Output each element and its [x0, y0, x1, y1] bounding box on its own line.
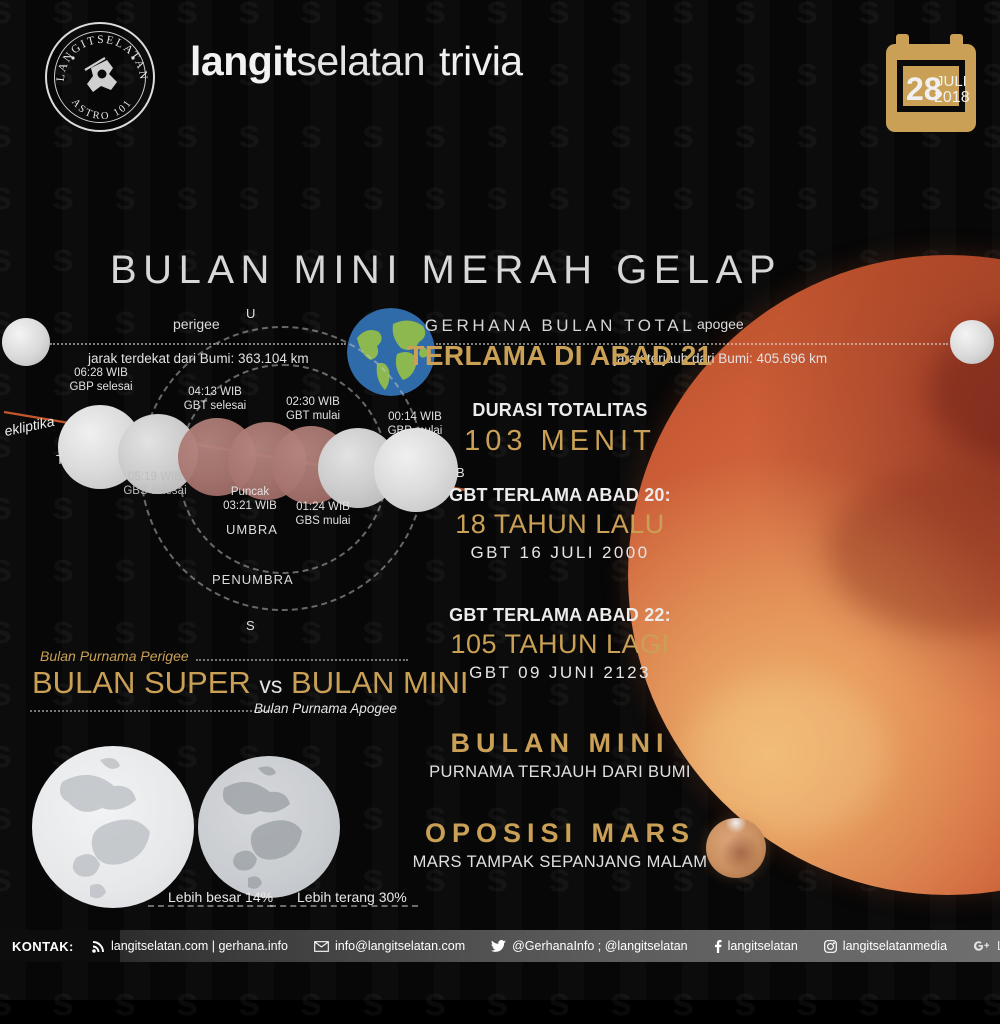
footer-item-text: langitselatanmedia: [843, 939, 947, 953]
compare-bottom-dotted-line: [30, 710, 272, 712]
mini-sub: PURNAMA TERJAUH DARI BUMI: [400, 763, 720, 782]
brand-langit: langit: [190, 38, 296, 84]
c20-value: 18 TAHUN LALU: [400, 509, 720, 540]
compare-caption-line-right: [270, 905, 418, 907]
calendar-icon: 28 JULI 2018: [884, 30, 978, 134]
fact-block-headline: GERHANA BULAN TOTAL TERLAMA DI ABAD 21: [400, 316, 720, 372]
watermark-glyph: s: [362, 796, 384, 836]
footer-item-website[interactable]: langitselatan.com | gerhana.info: [92, 939, 288, 953]
watermark-glyph: s: [982, 982, 1000, 1022]
duration-value: 103 MENIT: [400, 425, 720, 458]
supermoon-maria: [32, 746, 194, 908]
envelope-icon: [314, 941, 329, 952]
compare-title: BULAN SUPER vs BULAN MINI: [32, 665, 468, 701]
eclipse-label-gbp-selesai: 06:28 WIB GBP selesai: [46, 366, 156, 394]
watermark-glyph: s: [610, 982, 632, 1022]
watermark-glyph: s: [672, 982, 694, 1022]
phase-time: 06:28 WIB: [46, 366, 156, 380]
footer-item-text: info@langitselatan.com: [335, 939, 465, 953]
footer-item-instagram[interactable]: langitselatanmedia: [824, 939, 947, 953]
phase-event: GBT selesai: [160, 399, 270, 413]
watermark-glyph: s: [362, 982, 384, 1022]
watermark-glyph: s: [300, 982, 322, 1022]
watermark-glyph: s: [114, 982, 136, 1022]
watermark-glyph: s: [238, 982, 260, 1022]
watermark-glyph: s: [0, 858, 12, 898]
langitselatan-logo: LANGITSELATAN ASTRO 101: [45, 22, 155, 132]
watermark-glyph: s: [548, 982, 570, 1022]
footer-item-text: langitselatan.com | gerhana.info: [111, 939, 288, 953]
watermark-glyph: s: [0, 672, 12, 712]
caption-lebih-terang: Lebih terang 30%: [297, 889, 407, 905]
fact-block-century20: GBT TERLAMA ABAD 20: 18 TAHUN LALU GBT 1…: [400, 485, 720, 563]
c22-label: GBT TERLAMA ABAD 22:: [400, 605, 720, 626]
page-title: langitselatantrivia: [190, 38, 523, 85]
compass-b: B: [456, 465, 465, 480]
watermark-glyph: s: [362, 734, 384, 774]
supermoon-illustration: [32, 746, 194, 908]
watermark-glyph: s: [858, 982, 880, 1022]
phase-event: GBP selesai: [46, 380, 156, 394]
compare-top-dotted-line: [196, 659, 408, 661]
eclipse-label-gbt-selesai: 04:13 WIB GBT selesai: [160, 385, 270, 413]
footer-item-googleplus[interactable]: LangitselatanMedia: [973, 939, 1000, 953]
c22-value: 105 TAHUN LAGI: [400, 629, 720, 660]
calendar-year: 2018: [934, 89, 970, 106]
instagram-icon: [824, 940, 837, 953]
footer-contact-list: langitselatan.com | gerhana.info info@la…: [92, 930, 1000, 962]
minimoon-maria: [198, 756, 340, 898]
penumbra-label: PENUMBRA: [212, 572, 294, 587]
logo-emblem-icon: LANGITSELATAN ASTRO 101: [47, 24, 157, 134]
watermark-glyph: s: [486, 982, 508, 1022]
watermark-glyph: s: [176, 982, 198, 1022]
fact-headline: TERLAMA DI ABAD 21: [400, 340, 720, 372]
fact-block-bulan-mini: BULAN MINI PURNAMA TERJAUH DARI BUMI: [400, 728, 720, 782]
watermark-glyph: s: [0, 734, 12, 774]
fact-kicker: GERHANA BULAN TOTAL: [400, 316, 720, 336]
watermark-glyph: s: [734, 982, 756, 1022]
footer-item-email[interactable]: info@langitselatan.com: [314, 939, 465, 953]
rss-icon: [92, 940, 105, 953]
fact-block-oposisi-mars: OPOSISI MARS MARS TAMPAK SEPANJANG MALAM: [400, 818, 720, 872]
compare-title-right: BULAN MINI: [291, 665, 468, 700]
footer-item-text: langitselatan: [728, 939, 798, 953]
duration-label: DURASI TOTALITAS: [400, 400, 720, 421]
moon-mare-patch: [828, 465, 1000, 635]
mars-title: OPOSISI MARS: [400, 818, 720, 849]
svg-text:ASTRO 101: ASTRO 101: [69, 97, 135, 122]
phase-event: GBS mulai: [268, 514, 378, 528]
watermark-glyph: s: [424, 982, 446, 1022]
main-headline: BULAN MINI MERAH GELAP: [110, 248, 782, 293]
minimoon-illustration: [198, 756, 340, 898]
compass-s: S: [246, 618, 255, 633]
eclipse-label-puncak: Puncak 03:21 WIB: [195, 485, 305, 513]
watermark-glyph: s: [0, 796, 12, 836]
phase-event: GBT mulai: [258, 409, 368, 423]
compare-title-vs: vs: [259, 672, 282, 698]
compass-t: T: [56, 452, 64, 467]
caption-lebih-besar: Lebih besar 14%: [168, 889, 273, 905]
calendar-month: JULI: [936, 73, 967, 90]
mini-title: BULAN MINI: [400, 728, 720, 759]
compare-title-left: BULAN SUPER: [32, 665, 251, 700]
phase-time: 04:13 WIB: [160, 385, 270, 399]
perigee-apogee-strip: perigee jarak terdekat dari Bumi: 363.10…: [0, 150, 1000, 250]
phase-time: 02:30 WIB: [258, 395, 368, 409]
footer-item-text: @GerhanaInfo ; @langitselatan: [512, 939, 687, 953]
watermark-glyph: s: [52, 982, 74, 1022]
c20-date: GBT 16 JULI 2000: [400, 543, 720, 563]
c20-label: GBT TERLAMA ABAD 20:: [400, 485, 720, 506]
compare-note-apogee: Bulan Purnama Apogee: [254, 701, 397, 716]
eclipse-label-gbs-selesai: 05:19 WIB GBS selesai: [100, 470, 210, 498]
puncak-label: Puncak: [195, 485, 305, 499]
brand-selatan: selatan: [296, 38, 425, 84]
facebook-icon: [714, 940, 722, 953]
puncak-time: 03:21 WIB: [195, 499, 305, 513]
watermark-glyph: s: [920, 982, 942, 1022]
footer-item-facebook[interactable]: langitselatan: [714, 939, 798, 953]
compass-u: U: [246, 306, 255, 321]
apogee-moon-icon: [950, 320, 994, 364]
header-bar: LANGITSELATAN ASTRO 101 langitselatantri…: [0, 0, 1000, 150]
twitter-icon: [491, 940, 506, 953]
footer-item-twitter[interactable]: @GerhanaInfo ; @langitselatan: [491, 939, 687, 953]
watermark-glyph: s: [796, 982, 818, 1022]
watermark-glyph: s: [176, 734, 198, 774]
eclipse-label-gbt-mulai: 02:30 WIB GBT mulai: [258, 395, 368, 423]
brand-trivia: trivia: [439, 38, 523, 84]
phase-time: 05:19 WIB: [100, 470, 210, 484]
compare-caption-line-left: [148, 905, 273, 907]
mars-sub: MARS TAMPAK SEPANJANG MALAM: [400, 853, 720, 872]
fact-block-duration: DURASI TOTALITAS 103 MENIT: [400, 400, 720, 458]
phase-event: GBS selesai: [100, 484, 210, 498]
watermark-glyph: s: [0, 982, 12, 1022]
googleplus-icon: [973, 940, 991, 952]
compare-note-perigee: Bulan Purnama Perigee: [40, 648, 189, 664]
